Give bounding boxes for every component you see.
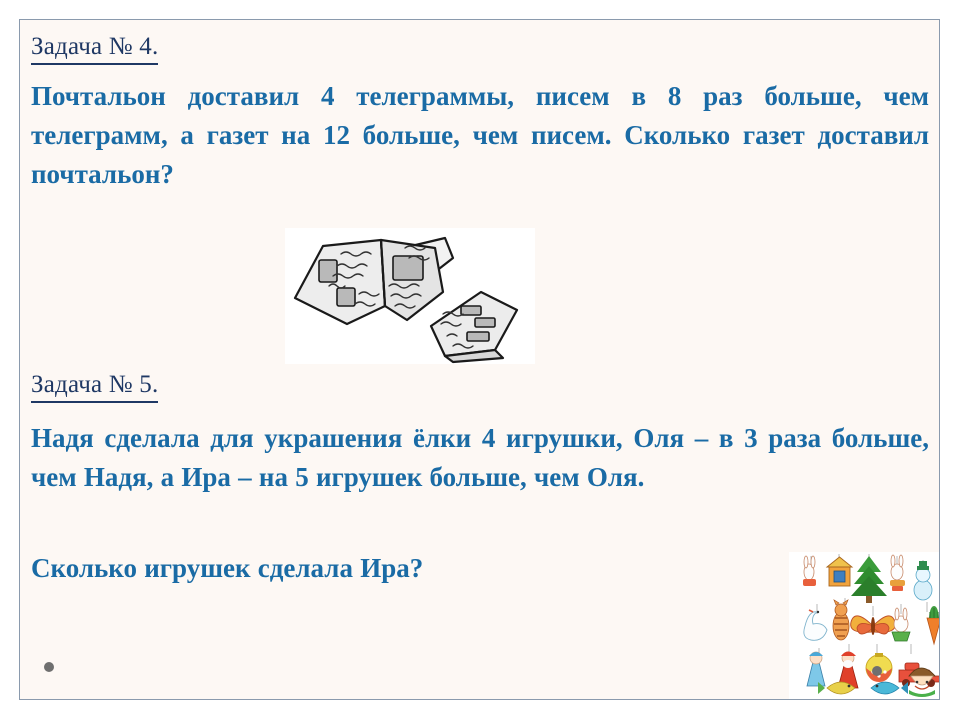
task-4-body-text: Почтальон доставил 4 телеграммы, писем в…	[31, 77, 929, 233]
task-5-heading-row: Задача № 5.	[31, 370, 158, 403]
task-4-heading-row: Задача № 4.	[31, 32, 158, 65]
content-panel: Задача № 4. Почтальон доставил 4 телегра…	[19, 19, 940, 700]
decorative-bullet-right	[872, 666, 882, 676]
task-5-body-text: Надя сделала для украшения ёлки 4 игрушк…	[31, 419, 929, 497]
task-5-heading: Задача № 5.	[31, 370, 158, 403]
decorative-bullet-left	[44, 662, 54, 672]
slide-canvas: Задача № 4. Почтальон доставил 4 телегра…	[0, 0, 960, 720]
newspapers-illustration	[285, 228, 535, 364]
task-4-heading: Задача № 4.	[31, 32, 158, 65]
christmas-ornaments-illustration	[789, 552, 940, 700]
